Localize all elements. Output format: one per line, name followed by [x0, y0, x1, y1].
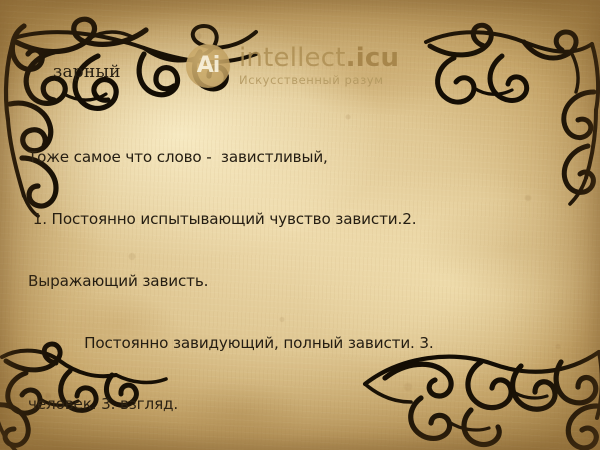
watermark-badge-text: Ai [197, 55, 220, 77]
body-line: Постоянно завидующий, полный зависти. 3. [28, 333, 584, 354]
watermark-brand: intellect.icu [239, 45, 399, 72]
watermark-logo-icon: Ai [186, 44, 230, 88]
watermark: Ai intellect.icu Искусственный разум [186, 44, 399, 88]
watermark-brand-light: intellect [239, 43, 346, 73]
headword: зарный [53, 62, 121, 82]
watermark-brand-bold: .icu [346, 43, 400, 73]
watermark-text-block: intellect.icu Искусственный разум [239, 45, 399, 87]
watermark-tagline: Искусственный разум [239, 73, 399, 87]
body-line: Выражающий зависть. [28, 271, 584, 292]
dictionary-body-text: Тоже самое что слово - завистливый, 1. П… [28, 106, 584, 450]
body-line: Тоже самое что слово - завистливый, [28, 147, 584, 168]
slide-canvas: Ai intellect.icu Искусственный разум зар… [0, 0, 600, 450]
body-line: 1. Постоянно испытывающий чувство завист… [28, 209, 584, 230]
body-line: человек. 3. взгляд. [28, 394, 584, 415]
